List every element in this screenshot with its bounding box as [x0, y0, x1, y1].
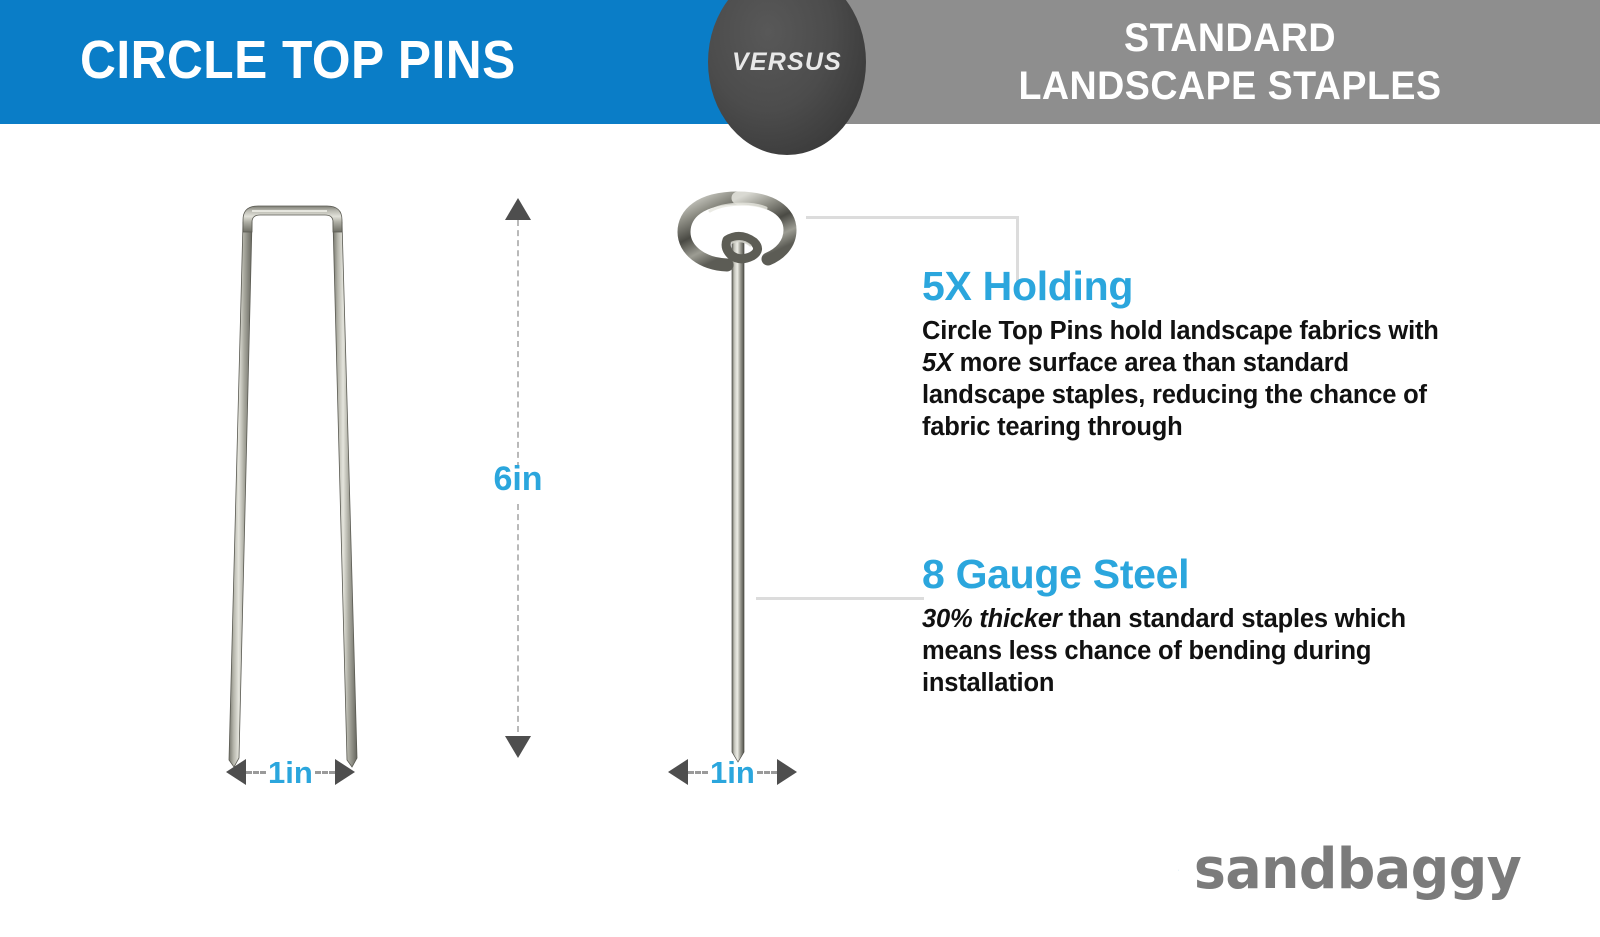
dimension-dash-right [757, 771, 777, 774]
callout-gauge-body: 30% thicker than standard staples which … [922, 603, 1462, 699]
header-right-title-line1: STANDARD [901, 14, 1559, 62]
callout-holding-body-emphasis: 5X [922, 349, 953, 377]
arrow-up-icon [505, 198, 531, 220]
right-width-dimension-label: 1in [708, 757, 757, 788]
sandbaggy-wordmark: sandbaggy [1194, 842, 1521, 898]
versus-badge: VERSUS [708, 0, 866, 155]
dimension-dash-right [315, 771, 335, 774]
arrow-right-icon [777, 759, 797, 785]
header-left-title: CIRCLE TOP PINS [80, 26, 632, 94]
height-dimension: 6in [492, 198, 544, 758]
dimension-dash-left [246, 771, 266, 774]
arrow-right-icon [335, 759, 355, 785]
dimension-dash-left [688, 771, 708, 774]
callout-holding-body-part-3: more surface area than standard landscap… [922, 349, 1427, 441]
header-bar: CIRCLE TOP PINS STANDARD LANDSCAPE STAPL… [0, 0, 1600, 124]
sandbag-icon: S [1178, 824, 1179, 916]
height-dimension-label: 6in [476, 460, 560, 499]
left-width-dimension: 1in [226, 752, 355, 792]
arrow-down-icon [505, 736, 531, 758]
standard-landscape-staple-illustration [229, 206, 357, 767]
callout-holding-body: Circle Top Pins hold landscape fabrics w… [922, 315, 1462, 443]
arrow-left-icon [226, 759, 246, 785]
sandbaggy-logo[interactable]: S sandbaggy [1178, 818, 1528, 922]
callout-holding-body-part-1: Circle Top Pins hold landscape fabrics w… [922, 317, 1439, 345]
callout-holding: 5X Holding Circle Top Pins hold landscap… [922, 263, 1462, 443]
dimension-line-upper [517, 220, 519, 468]
leader-line-gauge [756, 597, 924, 600]
arrow-left-icon [668, 759, 688, 785]
versus-label: VERSUS [708, 0, 866, 155]
callout-holding-heading: 5X Holding [922, 263, 1462, 309]
infographic-canvas: CIRCLE TOP PINS STANDARD LANDSCAPE STAPL… [0, 0, 1600, 937]
callout-gauge: 8 Gauge Steel 30% thicker than standard … [922, 551, 1462, 699]
header-right-title-line2: LANDSCAPE STAPLES [901, 62, 1559, 110]
left-width-dimension-label: 1in [266, 757, 315, 788]
dimension-line-lower [517, 504, 519, 732]
callout-gauge-heading: 8 Gauge Steel [922, 551, 1462, 597]
right-width-dimension: 1in [668, 752, 797, 792]
circle-top-pin-illustration [684, 198, 790, 762]
header-right-title: STANDARD LANDSCAPE STAPLES [901, 14, 1559, 110]
callout-gauge-body-emphasis: 30% thicker [922, 605, 1062, 633]
